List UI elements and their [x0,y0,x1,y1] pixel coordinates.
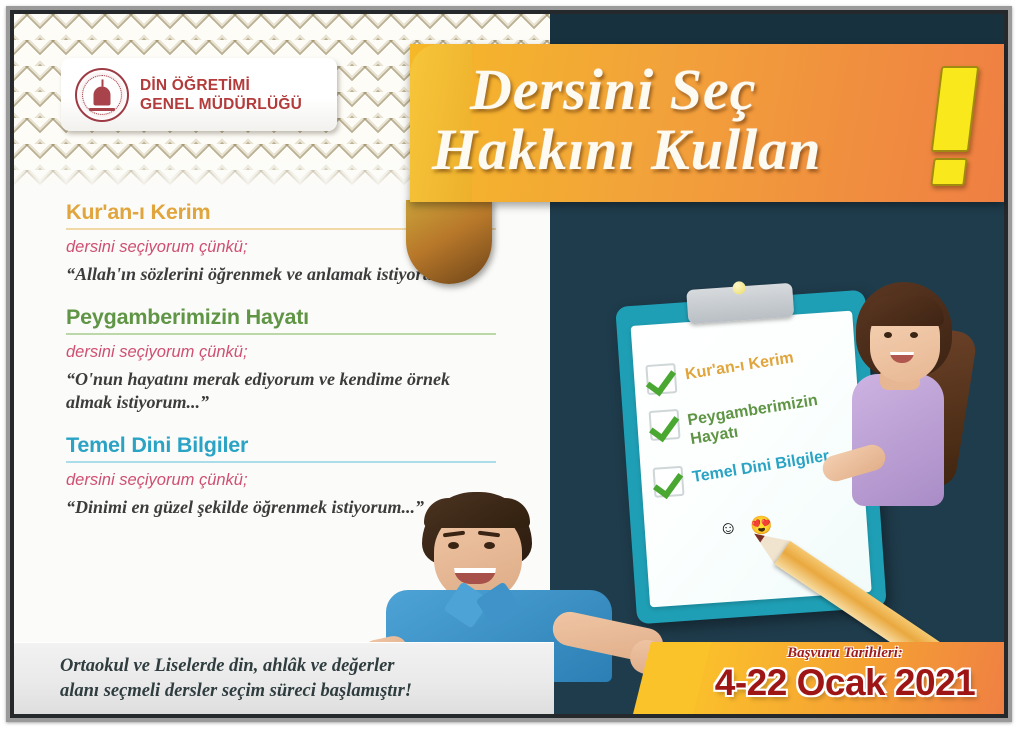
bottom-message-line-2: alanı seçmeli dersler seçim süreci başla… [60,679,480,704]
boy-eye-right [484,542,495,549]
application-dates-banner: Başvuru Tarihleri: 4-22 Ocak 2021 [686,642,1004,714]
logo-line-1: DİN ÖĞRETİMİ [140,76,302,95]
girl-fringe [866,296,944,326]
course-quote: “O'nun hayatını merak ediyorum ve kendim… [66,368,496,414]
girl-illustration [848,282,978,512]
girl-eye-right [910,332,918,338]
logo-line-2: GENEL MÜDÜRLÜĞÜ [140,95,302,114]
exclamation-dot [930,158,967,186]
bottom-message-text: Ortaokul ve Liselerde din, ahlâk ve değe… [60,654,480,704]
boy-fringe [424,498,530,528]
course-underline [66,461,496,463]
course-reason-lead: dersini seçiyorum çünkü; [66,470,496,491]
course-title: Kur'an-ı Kerim [66,200,210,227]
course-item: Peygamberimizin Hayatı dersini seçiyorum… [66,305,496,414]
checklist-label: Peygamberimizin Hayatı [686,383,851,449]
dates-value: 4-22 Ocak 2021 [686,662,1004,704]
clipboard-checklist: Kur'an-ı Kerim Peygamberimizin Hayatı Te… [645,351,855,514]
boy-eye-left [448,542,459,549]
checkmark-icon[interactable] [649,409,681,441]
logo-text: DİN ÖĞRETİMİ GENEL MÜDÜRLÜĞÜ [140,76,302,114]
seal-base-shape [89,108,115,111]
headline-line-2: Hakkını Kullan [432,116,822,183]
headline-line-1: Dersini Seç [470,56,757,123]
banner-curl [406,200,492,284]
girl-eye-left [884,332,892,338]
seal-dome-shape [94,86,111,105]
exclamation-mark-icon [930,66,980,184]
headline-banner: Dersini Seç Hakkını Kullan [410,44,1004,202]
clipboard-knob-icon [732,281,746,295]
logo-plate: DİN ÖĞRETİMİ GENEL MÜDÜRLÜĞÜ [61,58,337,131]
poster: DİN ÖĞRETİMİ GENEL MÜDÜRLÜĞÜ Kur'an-ı Ke… [10,10,1008,718]
checklist-label: Temel Dini Bilgiler [690,444,830,487]
course-title: Temel Dini Bilgiler [66,433,248,460]
poster-canvas: DİN ÖĞRETİMİ GENEL MÜDÜRLÜĞÜ Kur'an-ı Ke… [0,0,1024,755]
headline-text: Dersini Seç Hakkını Kullan [410,44,1004,202]
bottom-message-line-1: Ortaokul ve Liselerde din, ahlâk ve değe… [60,654,480,679]
girl-body [852,374,944,506]
course-title: Peygamberimizin Hayatı [66,305,309,332]
checkmark-icon[interactable] [645,363,677,395]
exclamation-bar [931,66,980,152]
bottom-message-banner: Ortaokul ve Liselerde din, ahlâk ve değe… [14,642,554,714]
meb-seal-icon [75,68,129,122]
course-reason-lead: dersini seçiyorum çünkü; [66,342,496,363]
course-underline [66,333,496,335]
dates-label: Başvuru Tarihleri: [686,645,1004,662]
